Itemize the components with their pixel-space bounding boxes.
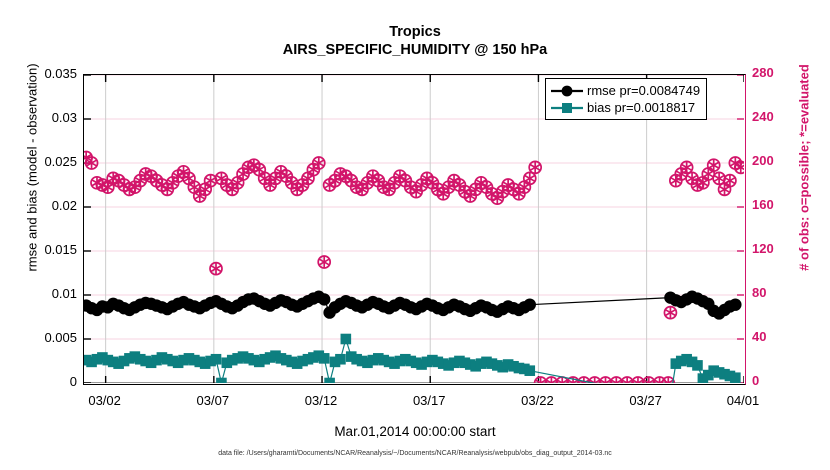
legend: rmse pr=0.0084749 bias pr=0.0018817 <box>545 78 707 120</box>
x-tick: 03/12 <box>286 393 356 408</box>
y-tick-left: 0.02 <box>17 198 77 213</box>
y-tick-right: 0 <box>752 373 812 388</box>
legend-item-rmse: rmse pr=0.0084749 <box>550 82 700 99</box>
x-tick: 03/22 <box>502 393 572 408</box>
y-tick-left: 0.03 <box>17 110 77 125</box>
legend-label-bias: bias pr=0.0018817 <box>587 100 695 115</box>
y-tick-left: 0.005 <box>17 330 77 345</box>
x-tick: 03/07 <box>178 393 248 408</box>
page-title: Tropics <box>0 24 830 40</box>
y-tick-left: 0.015 <box>17 242 77 257</box>
x-tick: 03/17 <box>394 393 464 408</box>
x-tick: 04/01 <box>708 393 778 408</box>
x-axis-label: Mar.01,2014 00:00:00 start <box>0 424 830 439</box>
plot-svg <box>84 75 744 383</box>
y-tick-right: 240 <box>752 109 812 124</box>
legend-marker-circle-icon <box>550 84 584 98</box>
data-file-footer: data file: /Users/gharamti/Documents/NCA… <box>0 450 830 457</box>
x-tick: 03/27 <box>611 393 681 408</box>
y-tick-right: 280 <box>752 65 812 80</box>
y-tick-right: 120 <box>752 241 812 256</box>
plot-area <box>83 74 746 385</box>
y-tick-left: 0.035 <box>17 66 77 81</box>
page-subtitle: AIRS_SPECIFIC_HUMIDITY @ 150 hPa <box>0 42 830 58</box>
series-square-filled <box>84 334 741 383</box>
y-tick-right: 40 <box>752 329 812 344</box>
legend-label-rmse: rmse pr=0.0084749 <box>587 83 700 98</box>
x-tick: 03/02 <box>70 393 140 408</box>
figure-canvas: Tropics AIRS_SPECIFIC_HUMIDITY @ 150 hPa… <box>0 0 830 470</box>
legend-marker-square-icon <box>550 101 584 115</box>
y-tick-right: 80 <box>752 285 812 300</box>
y-tick-right: 160 <box>752 197 812 212</box>
y-tick-right: 200 <box>752 153 812 168</box>
y-tick-left: 0.01 <box>17 286 77 301</box>
y-tick-left: 0 <box>17 374 77 389</box>
legend-item-bias: bias pr=0.0018817 <box>550 99 700 116</box>
y-tick-left: 0.025 <box>17 154 77 169</box>
